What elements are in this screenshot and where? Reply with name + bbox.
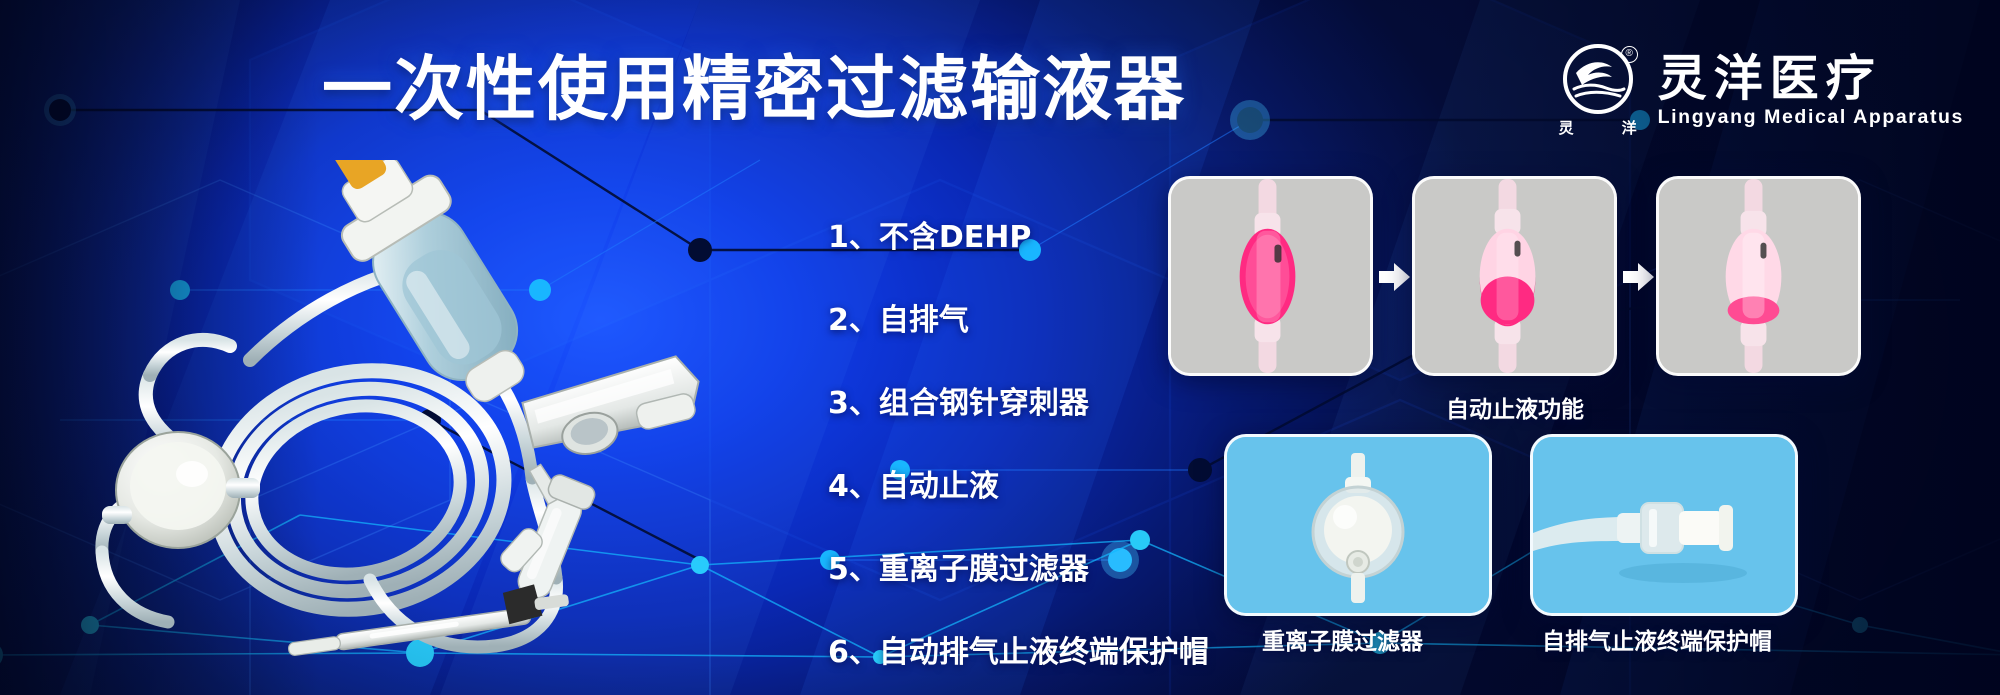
flow-panel-3 [1656,176,1861,376]
feature-item-4: 4、自动止液 [828,461,1209,505]
logo-badge-char-left: 灵 [1559,117,1574,138]
registered-trademark-icon: ® [1621,46,1638,63]
feature-item-1: 1、不含DEHP [828,212,1209,256]
main-product-image [40,160,780,680]
brand-name-cn: 灵洋医疗 [1658,53,1964,104]
feature-item-5: 5、重离子膜过滤器 [828,544,1209,588]
logo-badge-subtext: 灵 洋 [1556,117,1640,138]
flow-panel-2 [1412,176,1617,376]
product-card-filter [1224,434,1492,616]
flow-arrow-2-icon [1621,262,1655,292]
drip-chamber-full-photo [1171,179,1370,373]
drip-chamber-half-photo [1415,179,1614,373]
product-card-filter-caption: 重离子膜过滤器 [1262,622,1423,656]
flow-panel-1 [1168,176,1373,376]
flow-arrow-1-icon [1377,262,1411,292]
self-venting-cap-photo [1533,437,1795,613]
feature-item-6: 6、自动排气止液终端保护帽 [828,627,1209,671]
roller-clamp-part [521,352,710,466]
page-title: 一次性使用精密过滤输液器 [322,54,1186,124]
brand-logo: ® 灵 洋 灵洋医疗 Lingyang Medical Apparatus [1556,44,1964,138]
feature-item-2: 2、自排气 [828,295,1209,339]
product-card-cap-caption: 自排气止液终端保护帽 [1542,622,1772,656]
brand-name-en: Lingyang Medical Apparatus [1658,106,1964,129]
feature-item-3: 3、组合钢针穿刺器 [828,378,1209,422]
product-card-cap [1530,434,1798,616]
drip-chamber-low-photo [1659,179,1858,373]
flow-sequence-caption: 自动止液功能 [1446,390,1584,424]
logo-badge-char-right: 洋 [1622,117,1637,138]
feature-list: 1、不含DEHP 2、自排气 3、组合钢针穿刺器 4、自动止液 5、重离子膜过滤… [828,212,1209,671]
logo-emblem: ® 灵 洋 [1556,44,1640,138]
heavy-ion-membrane-filter-photo [1227,437,1489,613]
logo-wordmark: 灵洋医疗 Lingyang Medical Apparatus [1658,53,1964,129]
product-banner: 一次性使用精密过滤输液器 ® 灵 洋 灵洋医疗 Lingyang Medical… [0,0,2000,695]
wave-swoosh-icon [1570,55,1626,103]
